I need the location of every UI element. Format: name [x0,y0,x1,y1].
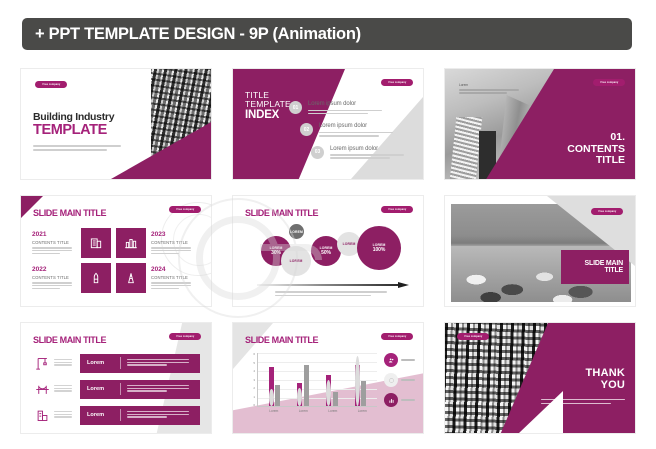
x-tick: Lorem [328,409,337,413]
year-subtitle: CONTENTS TITLE [32,240,76,245]
slide-thumbnail-6[interactable]: Free company SLIDE MAIN TITLE [444,195,636,307]
progress-arrow-icon [257,282,409,288]
slide3-caption: Lorem [459,83,521,96]
circle-value: 30% [271,250,281,256]
construction-icon [32,405,52,425]
y-tick: 3 [253,379,255,382]
index-item-heading: Lorem ipsum dolor [330,146,404,152]
process-circle[interactable]: LOREM [289,224,304,239]
slide-thumbnail-7[interactable]: SLIDE MAIN TITLE Free company Lorem [20,322,212,434]
bar-group [355,365,367,406]
year-cell: 2023 CONTENTS TITLE [151,231,195,256]
company-badge: Free company [169,333,201,340]
index-number: 02 [300,123,313,136]
chart-bar [304,365,309,406]
slide9-caption [541,399,625,406]
chart-bar-groups [260,352,375,406]
slide-thumbnail-4[interactable]: SLIDE MAIN TITLE Free company 2021 CONTE… [20,195,212,307]
slide1-heading-2: TEMPLATE [33,122,107,138]
feature-bar: Lorem [80,380,200,399]
slide5-caption [275,291,387,298]
ppt-template-preview-page: + PPT TEMPLATE DESIGN - 9P (Animation) F… [0,0,656,449]
year-label: 2023 [151,231,195,238]
chart-bar [361,381,366,406]
circle-value: 50% [321,250,331,256]
company-badge: Free company [381,333,413,340]
slide2-title-block: TITLE TEMPLATE INDEX [245,91,291,109]
chart-icon [384,393,398,407]
slide-thumbnail-9[interactable]: Free company THANK YOU [444,322,636,434]
circle-value: 100% [373,247,385,253]
company-badge: Free company [381,206,413,213]
feature-label: Lorem [80,386,120,392]
slide9-title-line-2: YOU [586,379,626,391]
slide3-number: 01. [567,132,625,144]
tower-icon [81,263,111,293]
process-circles: LOREM 30% LOREM LOREM LOREM 50% LOREM LO [239,222,421,280]
slide3-title-block: 01. CONTENTS TITLE [567,132,625,167]
list-item[interactable]: 02 Lorem ipsum dolor [300,123,421,138]
caption-tag: Lorem [459,83,521,87]
building-shape [450,117,483,180]
y-tick: 2 [253,387,255,390]
company-badge: Free company [35,81,67,88]
y-tick: 1 [253,396,255,399]
process-circle[interactable]: LOREM 100% [357,226,401,270]
circle-icon [384,373,398,387]
slide9-title-line-1: THANK [586,367,626,379]
page-title: + PPT TEMPLATE DESIGN - 9P (Animation) [22,25,361,44]
slide-thumbnail-1[interactable]: Free company Building Industry TEMPLATE [20,68,212,180]
year-cell: 2024 CONTENTS TITLE [151,266,195,291]
list-item[interactable]: Lorem [32,353,200,373]
slide3-title-line-2: TITLE [567,155,625,167]
slide7-title: SLIDE MAIN TITLE [33,335,106,345]
year-label: 2024 [151,266,195,273]
year-label: 2021 [32,231,76,238]
year-subtitle: CONTENTS TITLE [32,275,76,280]
feature-row-list: Lorem Lorem [32,353,200,431]
company-badge: Free company [593,79,625,86]
list-item[interactable]: Lorem [32,405,200,425]
year-subtitle: CONTENTS TITLE [151,275,195,280]
year-cell: 2021 CONTENTS TITLE [32,231,76,256]
chart-bar [269,389,274,406]
bar-group [269,367,281,406]
index-number: 03 [311,146,324,159]
bar-group [297,365,309,406]
slide-thumbnail-2[interactable]: Free company TITLE TEMPLATE INDEX 01 Lor… [232,68,424,180]
company-badge: Free company [457,333,489,340]
chart-plot-area [257,353,377,407]
bar-group [326,375,338,406]
chart-bar [355,356,360,406]
y-tick: 0 [253,404,255,407]
chart-x-axis: LoremLoremLoremLorem [259,409,377,413]
index-item-heading: Lorem ipsum dolor [308,101,382,107]
y-tick: 5 [253,362,255,365]
list-item[interactable]: Lorem [32,379,200,399]
slide-thumbnail-3[interactable]: Free company Lorem 01. CONTENTS TITLE [444,68,636,180]
year-subtitle: CONTENTS TITLE [151,240,195,245]
skyscraper-icon [116,263,146,293]
x-tick: Lorem [299,409,308,413]
legend-item [384,353,415,367]
crane-icon [32,353,52,373]
circle-label: LOREM [343,242,356,246]
slide-thumbnail-8[interactable]: SLIDE MAIN TITLE Free company 6 5 4 3 2 … [232,322,424,434]
year-grid: 2021 CONTENTS TITLE [32,228,202,293]
list-item[interactable]: 03 Lorem ipsum dolor [311,146,421,161]
bar-chart: 6 5 4 3 2 1 0 LoremLoremLoremLorem [247,353,377,415]
index-item-list: 01 Lorem ipsum dolor 02 Lorem ipsum dolo… [289,101,421,168]
slide2-title-line-2: TEMPLATE [245,100,291,109]
building-icon [81,228,111,258]
feature-label: Lorem [80,412,120,418]
legend-item [384,373,415,387]
factory-icon [116,228,146,258]
x-tick: Lorem [269,409,278,413]
list-item[interactable]: 01 Lorem ipsum dolor [289,101,421,116]
circle-label: LOREM [290,259,303,263]
company-badge: Free company [169,206,201,213]
company-badge: Free company [591,208,623,215]
chart-bar [275,385,280,406]
legend-item [384,393,415,407]
feature-label: Lorem [80,360,120,366]
feature-bar: Lorem [80,354,200,373]
y-tick: 4 [253,370,255,373]
slide-thumbnail-grid: Free company Building Industry TEMPLATE … [20,68,636,440]
process-circle[interactable]: LOREM [281,246,311,276]
slide6-title-line-2: TITLE [605,267,623,274]
x-tick: Lorem [358,409,367,413]
slide5-title: SLIDE MAIN TITLE [245,208,318,218]
circle-label: LOREM [290,230,303,234]
slide6-title-box: SLIDE MAIN TITLE [561,250,629,284]
slide4-title: SLIDE MAIN TITLE [33,208,106,218]
feature-bar: Lorem [80,406,200,425]
y-tick: 6 [253,353,255,356]
page-header-bar: + PPT TEMPLATE DESIGN - 9P (Animation) [22,18,632,50]
company-badge: Free company [381,79,413,86]
chart-bar [333,392,338,406]
people-icon [384,353,398,367]
year-cell: 2022 CONTENTS TITLE [32,266,76,291]
slide6-title-line-1: SLIDE MAIN [585,260,623,267]
slide9-title-block: THANK YOU [586,367,626,391]
slide-thumbnail-5[interactable]: SLIDE MAIN TITLE Free company LOREM 30% … [232,195,424,307]
chart-legend [384,353,415,413]
slide1-body-text [33,145,121,153]
index-item-heading: Lorem ipsum dolor [319,123,393,129]
bridge-icon [32,379,52,399]
year-label: 2022 [32,266,76,273]
slide2-title-line-3: INDEX [245,109,279,121]
slide8-title: SLIDE MAIN TITLE [245,335,318,345]
index-number: 01 [289,101,302,114]
chart-y-axis: 6 5 4 3 2 1 0 [247,353,255,407]
